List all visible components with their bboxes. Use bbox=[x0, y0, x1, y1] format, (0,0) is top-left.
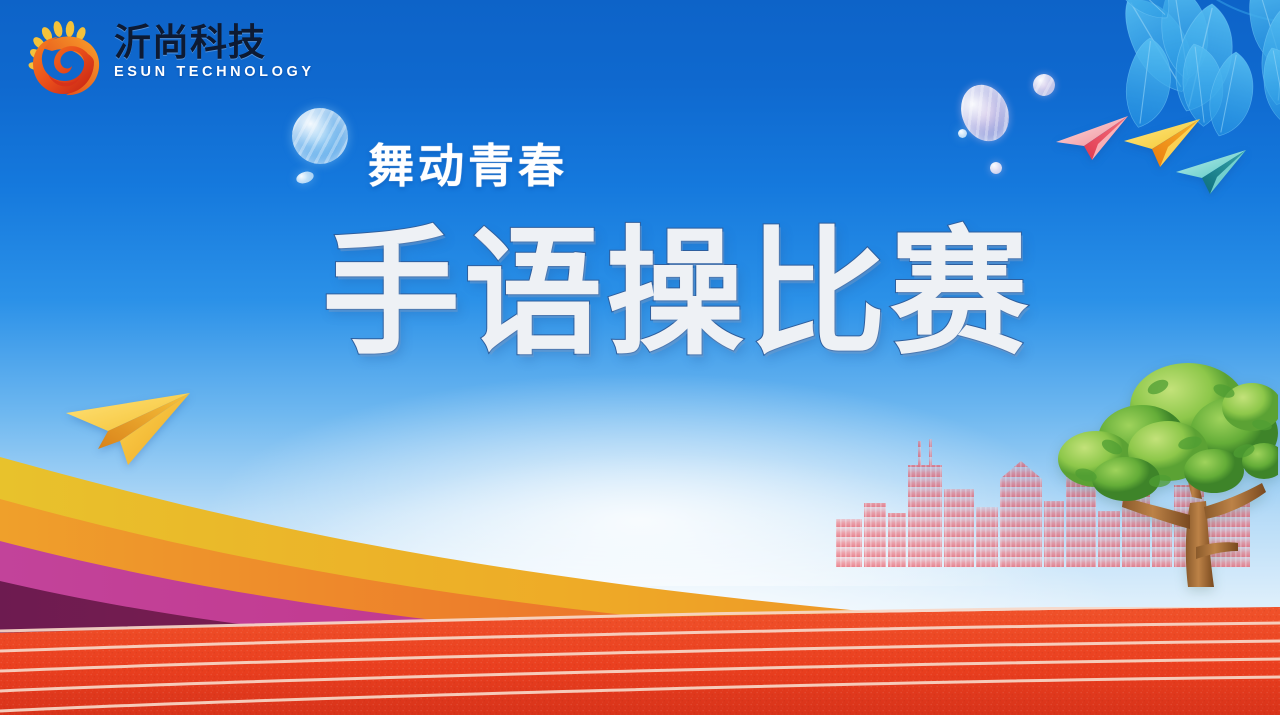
company-name-cn: 沂尚科技 bbox=[114, 24, 320, 63]
main-title-text: 手语操比赛 bbox=[322, 218, 1032, 370]
brand-logo[interactable]: 沂尚科技 ESUN TECHNOLOGY bbox=[22, 18, 322, 110]
bubble-mid-pink bbox=[1033, 74, 1055, 96]
logo-text-block: 沂尚科技 ESUN TECHNOLOGY bbox=[114, 24, 320, 80]
paper-plane-teal-icon bbox=[1172, 148, 1248, 198]
company-name-en: ESUN TECHNOLOGY bbox=[114, 64, 320, 80]
subtitle-text: 舞动青春 bbox=[368, 130, 568, 196]
bubble-tiny-pink bbox=[990, 162, 1002, 174]
running-track bbox=[0, 607, 1280, 715]
bubble-large-cyan bbox=[292, 108, 348, 164]
esun-swirl-sun-logo-icon bbox=[22, 18, 110, 106]
bubble-tiny-cyan bbox=[958, 129, 967, 138]
poster-canvas: 沂尚科技 ESUN TECHNOLOGY 舞动青春 手语操比赛 bbox=[0, 0, 1280, 715]
